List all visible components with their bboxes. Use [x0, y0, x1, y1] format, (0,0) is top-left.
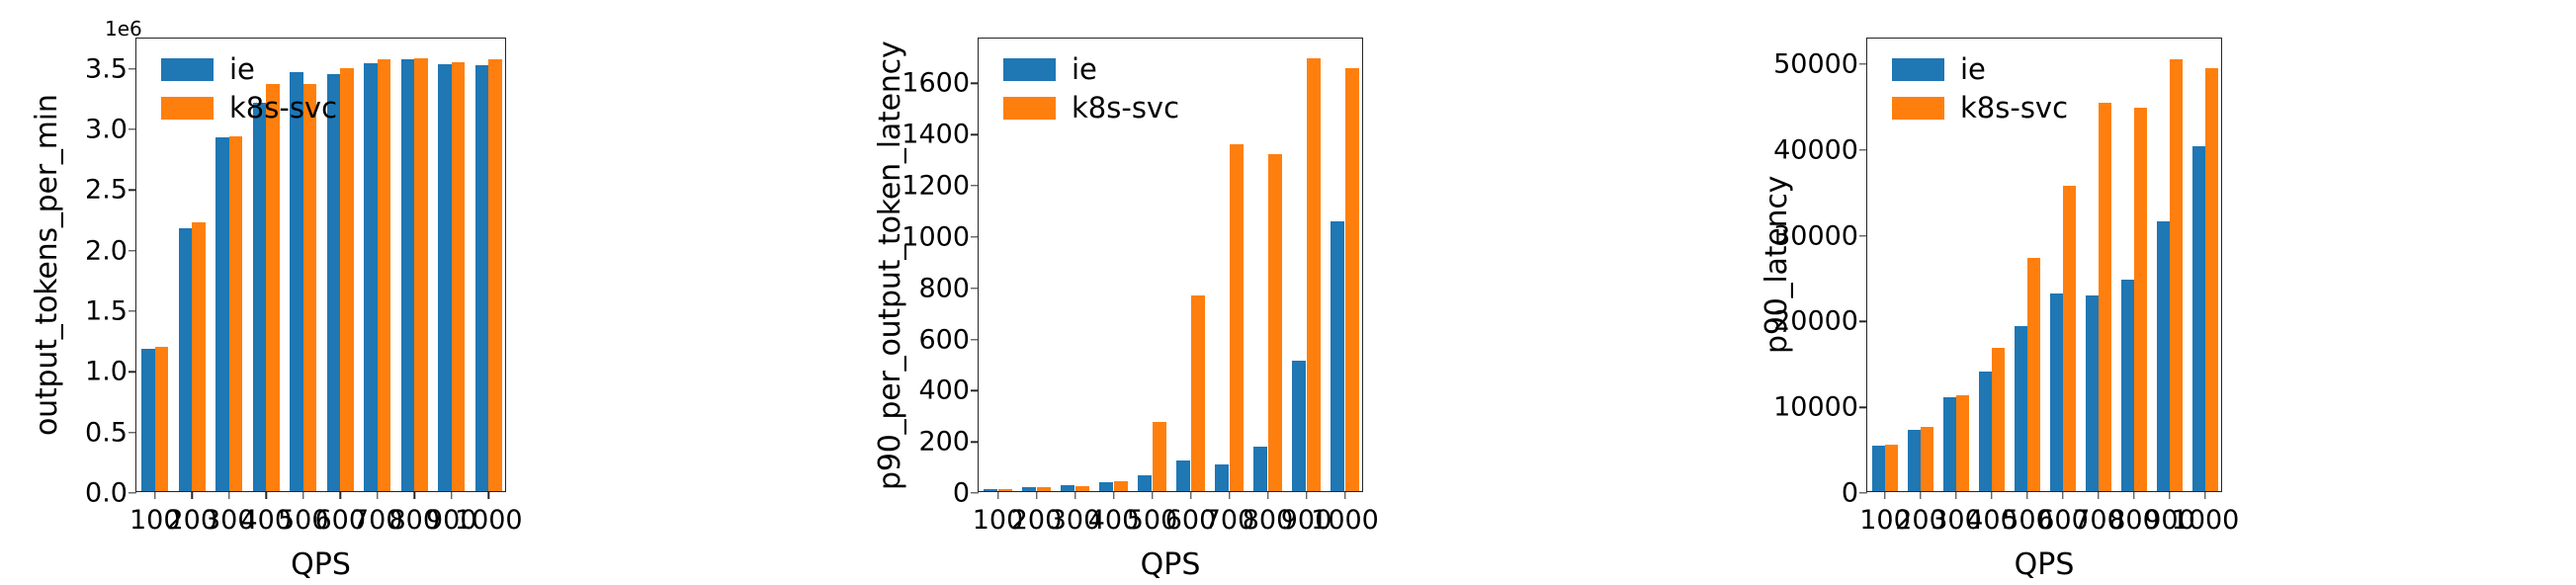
x-axis-tick-mark — [1229, 491, 1230, 499]
y-axis-tick-label: 0.0 — [85, 478, 128, 509]
bar-ie-700 — [2086, 295, 2099, 491]
x-axis-tick-mark — [192, 491, 193, 499]
y-axis-tick-mark — [129, 492, 136, 493]
x-axis-tick-mark — [2204, 491, 2205, 499]
y-axis-tick-mark — [971, 133, 979, 134]
bar-k8s-svc-1000 — [2205, 68, 2218, 491]
y-axis-tick-label: 3.0 — [85, 115, 128, 145]
x-axis-label: QPS — [978, 547, 1363, 582]
legend-item-ie: ie — [1003, 55, 1179, 84]
bar-ie-600 — [327, 74, 341, 491]
legend-item-label: k8s-svc — [1960, 94, 2068, 123]
y-axis-tick-label: 1000 — [902, 221, 970, 252]
y-axis-tick-mark — [971, 288, 979, 289]
y-axis-tick-mark — [129, 310, 136, 311]
bar-ie-400 — [1099, 482, 1113, 491]
legend-item-label: ie — [1960, 55, 1986, 84]
bar-k8s-svc-200 — [192, 222, 206, 491]
x-axis-tick-mark — [340, 491, 341, 499]
x-axis-tick-mark — [154, 491, 155, 499]
legend-swatch-icon — [161, 97, 214, 120]
y-axis-tick-label: 40000 — [1773, 134, 1858, 165]
bar-k8s-svc-900 — [1307, 58, 1321, 491]
x-axis-tick-mark — [2133, 491, 2134, 499]
bar-ie-700 — [364, 63, 378, 491]
bar-k8s-svc-400 — [1114, 481, 1128, 491]
bar-k8s-svc-200 — [1037, 487, 1051, 491]
bar-ie-900 — [438, 64, 452, 491]
x-axis-tick-mark — [1036, 491, 1037, 499]
bar-ie-100 — [141, 349, 155, 491]
x-axis-tick-mark — [488, 491, 489, 499]
y-axis-tick-mark — [129, 68, 136, 69]
legend-swatch-icon — [1003, 97, 1056, 120]
y-axis-offset-text: 1e6 — [105, 17, 142, 41]
bar-k8s-svc-1000 — [488, 59, 502, 491]
y-axis-tick-label: 0.5 — [85, 417, 128, 448]
legend-item-label: k8s-svc — [229, 94, 337, 123]
bar-ie-800 — [1253, 447, 1267, 491]
bar-ie-300 — [1061, 485, 1074, 491]
bar-k8s-svc-100 — [1885, 445, 1898, 491]
bar-k8s-svc-300 — [1956, 395, 1969, 491]
bar-ie-900 — [2157, 221, 2170, 491]
y-axis-tick-mark — [971, 492, 979, 493]
x-axis-tick-label: 1000 — [2172, 505, 2240, 536]
bar-ie-400 — [1979, 372, 1992, 492]
bar-ie-500 — [290, 72, 303, 491]
bar-ie-300 — [1943, 397, 1956, 491]
bar-ie-500 — [2015, 326, 2027, 492]
x-axis-tick-mark — [266, 491, 267, 499]
y-axis-tick-mark — [1859, 235, 1867, 236]
x-axis-tick-mark — [1074, 491, 1075, 499]
y-axis-tick-label: 200 — [918, 427, 970, 458]
x-axis-tick-mark — [1190, 491, 1191, 499]
bar-ie-700 — [1215, 464, 1229, 491]
bar-k8s-svc-600 — [340, 68, 354, 491]
bar-ie-200 — [1022, 487, 1036, 491]
y-axis-tick-label: 1.5 — [85, 296, 128, 327]
legend-item-k8s-svc: k8s-svc — [1892, 94, 2068, 123]
y-axis-tick-mark — [971, 185, 979, 186]
y-axis-tick-mark — [1859, 321, 1867, 322]
x-axis-tick-mark — [1113, 491, 1114, 499]
bar-ie-800 — [2121, 280, 2134, 491]
legend-swatch-icon — [1892, 97, 1944, 120]
y-axis-tick-mark — [129, 372, 136, 373]
bar-k8s-svc-800 — [2134, 108, 2147, 491]
legend-item-k8s-svc: k8s-svc — [1003, 94, 1179, 123]
bar-ie-200 — [179, 228, 193, 491]
bar-k8s-svc-1000 — [1345, 68, 1359, 491]
y-axis-tick-label: 50000 — [1773, 49, 1858, 80]
bar-k8s-svc-200 — [1921, 427, 1933, 491]
y-axis-tick-label: 3.5 — [85, 53, 128, 84]
bar-ie-600 — [1176, 460, 1190, 491]
x-axis-tick-mark — [2169, 491, 2170, 499]
x-axis-tick-mark — [1884, 491, 1885, 499]
bar-ie-200 — [1908, 430, 1921, 491]
y-axis-tick-label: 1200 — [902, 171, 970, 202]
legend: iek8s-svc — [1892, 55, 2068, 123]
bar-ie-100 — [1872, 446, 1885, 491]
legend-item-ie: ie — [1892, 55, 2068, 84]
y-axis-tick-mark — [1859, 149, 1867, 150]
y-axis-tick-label: 2.0 — [85, 235, 128, 266]
bar-k8s-svc-700 — [378, 59, 391, 491]
y-axis-label: output_tokens_per_min — [30, 94, 64, 436]
legend-item-k8s-svc: k8s-svc — [161, 94, 337, 123]
bar-ie-900 — [1292, 361, 1306, 491]
y-axis-label: p90_per_output_token_latency — [873, 41, 907, 490]
y-axis-label: p90_latency — [1760, 176, 1794, 354]
y-axis-tick-mark — [971, 390, 979, 391]
y-axis-tick-mark — [971, 441, 979, 442]
legend-swatch-icon — [1003, 58, 1056, 81]
bar-ie-1000 — [475, 65, 489, 491]
x-axis-tick-mark — [451, 491, 452, 499]
bar-k8s-svc-800 — [414, 58, 428, 491]
bar-k8s-svc-900 — [2170, 59, 2183, 491]
x-axis-tick-mark — [1920, 491, 1921, 499]
bar-k8s-svc-700 — [2099, 103, 2111, 491]
x-axis-tick-mark — [1991, 491, 1992, 499]
bar-k8s-svc-700 — [1230, 144, 1244, 491]
x-axis-tick-mark — [2098, 491, 2099, 499]
x-axis-tick-mark — [1267, 491, 1268, 499]
legend: iek8s-svc — [1003, 55, 1179, 123]
y-axis-tick-mark — [129, 432, 136, 433]
bar-ie-1000 — [1331, 221, 1344, 491]
bar-k8s-svc-500 — [2027, 258, 2040, 491]
bar-ie-500 — [1138, 475, 1152, 491]
x-axis-tick-mark — [1306, 491, 1307, 499]
x-axis-tick-mark — [302, 491, 303, 499]
y-axis-tick-label: 1.0 — [85, 357, 128, 387]
chart-panel-output-tokens-per-min: 0.00.51.01.52.02.53.03.51002003004005006… — [0, 0, 859, 585]
x-axis-tick-mark — [2026, 491, 2027, 499]
bar-k8s-svc-600 — [2063, 186, 2076, 491]
bar-k8s-svc-600 — [1191, 295, 1205, 491]
y-axis-tick-mark — [129, 250, 136, 251]
x-axis-tick-mark — [1955, 491, 1956, 499]
bar-k8s-svc-400 — [1992, 348, 2005, 491]
y-axis-tick-label: 10000 — [1773, 392, 1858, 423]
bar-k8s-svc-300 — [1075, 486, 1089, 491]
x-axis-tick-mark — [1344, 491, 1345, 499]
bar-ie-100 — [984, 489, 997, 491]
legend-swatch-icon — [1892, 58, 1944, 81]
x-axis-tick-mark — [228, 491, 229, 499]
y-axis-tick-mark — [971, 339, 979, 340]
y-axis-tick-mark — [1859, 407, 1867, 408]
x-axis-tick-label: 1000 — [455, 505, 523, 536]
x-axis-tick-mark — [1152, 491, 1153, 499]
x-axis-tick-mark — [414, 491, 415, 499]
legend: iek8s-svc — [161, 55, 337, 123]
bar-k8s-svc-800 — [1268, 154, 1282, 491]
legend-item-label: k8s-svc — [1072, 94, 1179, 123]
y-axis-tick-mark — [129, 128, 136, 129]
legend-swatch-icon — [161, 58, 214, 81]
y-axis-tick-mark — [971, 236, 979, 237]
y-axis-tick-label: 2.5 — [85, 175, 128, 206]
y-axis-tick-label: 800 — [918, 273, 970, 303]
bar-k8s-svc-300 — [229, 136, 243, 491]
x-axis-label: QPS — [1866, 547, 2222, 582]
y-axis-tick-label: 1400 — [902, 120, 970, 150]
x-axis-tick-mark — [377, 491, 378, 499]
x-axis-tick-mark — [997, 491, 998, 499]
bar-k8s-svc-100 — [998, 489, 1012, 491]
y-axis-tick-label: 1600 — [902, 68, 970, 99]
y-axis-tick-mark — [1859, 492, 1867, 493]
y-axis-tick-label: 600 — [918, 324, 970, 355]
bar-ie-800 — [401, 59, 415, 491]
bar-k8s-svc-500 — [1153, 422, 1166, 491]
y-axis-tick-mark — [129, 190, 136, 191]
chart-panel-p90-per-output-token-latency: 0200400600800100012001400160010020030040… — [859, 0, 1718, 585]
y-axis-tick-mark — [971, 83, 979, 84]
x-axis-tick-mark — [2062, 491, 2063, 499]
bar-k8s-svc-500 — [303, 84, 317, 491]
y-axis-tick-mark — [1859, 63, 1867, 64]
bar-k8s-svc-100 — [155, 347, 169, 491]
x-axis-label: QPS — [135, 547, 506, 582]
bar-k8s-svc-400 — [266, 84, 280, 491]
bar-k8s-svc-900 — [452, 62, 466, 491]
legend-item-label: ie — [229, 55, 255, 84]
bar-ie-600 — [2050, 293, 2063, 491]
legend-item-label: ie — [1072, 55, 1097, 84]
legend-item-ie: ie — [161, 55, 337, 84]
bar-ie-300 — [215, 137, 229, 491]
bar-ie-400 — [253, 103, 267, 491]
chart-panel-p90-latency: 0100002000030000400005000010020030040050… — [1718, 0, 2576, 585]
y-axis-tick-label: 0 — [1842, 478, 1858, 509]
y-axis-tick-label: 0 — [953, 478, 970, 509]
x-axis-tick-label: 1000 — [1311, 505, 1379, 536]
figure-root: 0.00.51.01.52.02.53.03.51002003004005006… — [0, 0, 2576, 585]
bar-ie-1000 — [2192, 146, 2205, 491]
y-axis-tick-label: 400 — [918, 376, 970, 406]
